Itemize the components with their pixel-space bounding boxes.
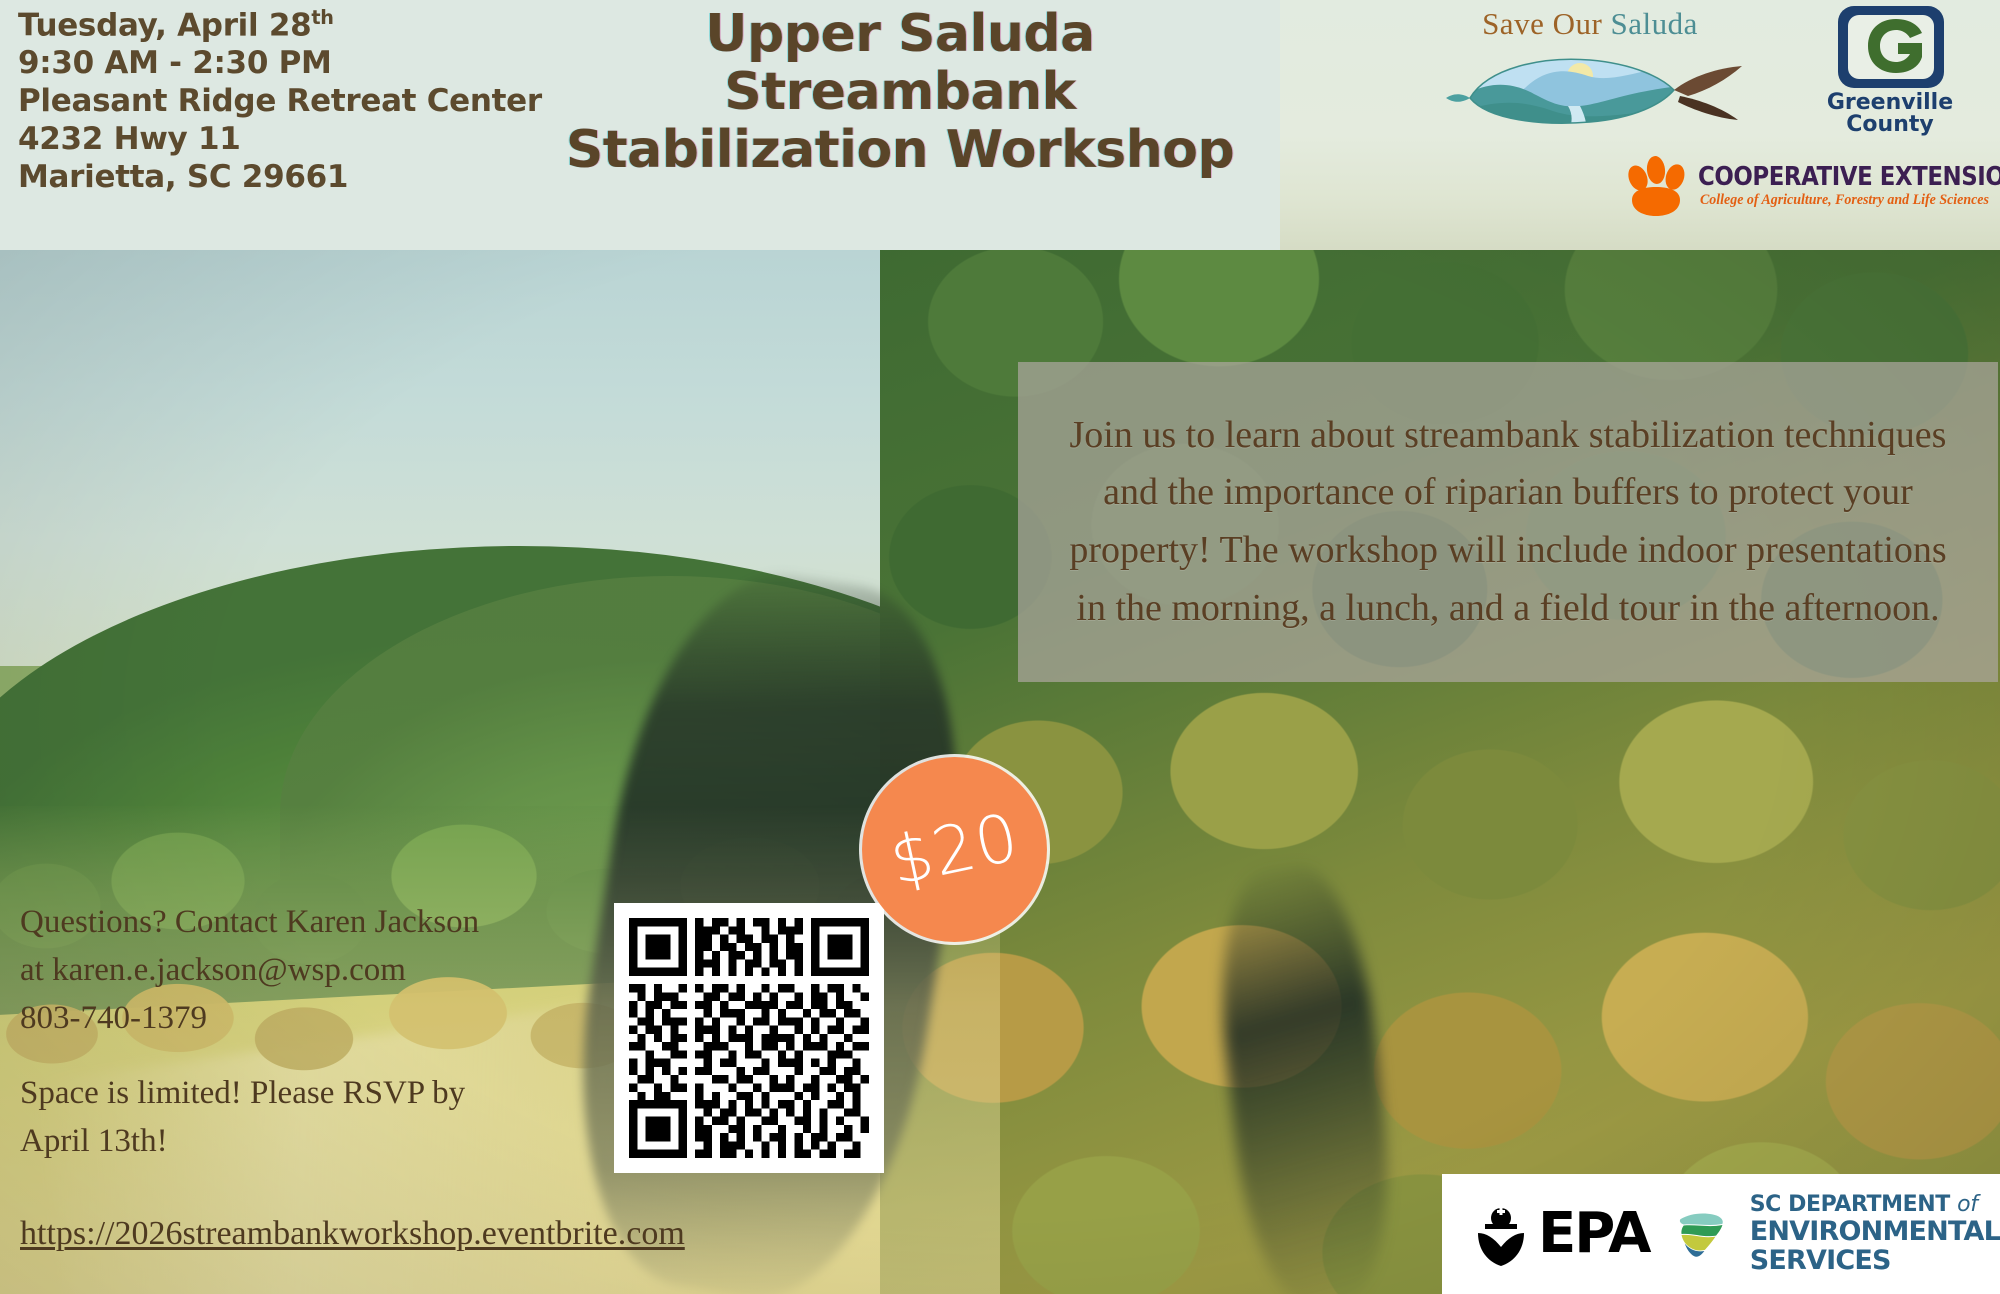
save-our-saluda-logo: Save Our Saluda — [1430, 6, 1750, 126]
greenville-county-wordmark: Greenville County — [1790, 92, 1990, 137]
qr-code-icon — [629, 918, 869, 1158]
fish-river-mountain-icon — [1430, 46, 1750, 132]
rsvp-line-2: April 13th! — [20, 1117, 620, 1165]
contact-phone: 803-740-1379 — [20, 994, 620, 1042]
des-line-1a: SC DEPARTMENT — [1750, 1192, 1957, 1217]
contact-line-1: Questions? Contact Karen Jackson — [20, 898, 620, 946]
gc-line-2: County — [1790, 114, 1990, 136]
contact-email: at karen.e.jackson@wsp.com — [20, 946, 620, 994]
sos-word-our: Our — [1553, 6, 1603, 41]
title-line-1: Upper Saluda — [540, 5, 1260, 63]
description-text: Join us to learn about streambank stabil… — [1018, 407, 1998, 638]
description-panel: Join us to learn about streambank stabil… — [1018, 362, 1998, 682]
des-line-2: ENVIRONMENTAL — [1750, 1217, 2000, 1246]
price-amount: $20 — [883, 798, 1025, 900]
des-line-3: SERVICES — [1750, 1246, 2000, 1275]
epa-logo: EPA — [1468, 1200, 1650, 1268]
epa-wordmark: EPA — [1538, 1206, 1650, 1262]
sos-word-save: Save — [1482, 6, 1544, 41]
event-details: Tuesday, April 28th 9:30 AM - 2:30 PM Pl… — [18, 6, 538, 196]
clemson-extension-logo: COOPERATIVE EXTENSION College of Agricul… — [1620, 152, 2000, 214]
registration-link[interactable]: https://2026streambankworkshop.eventbrit… — [20, 1215, 685, 1253]
extension-title: COOPERATIVE EXTENSION — [1698, 162, 2000, 192]
page-title: Upper Saluda Streambank Stabilization Wo… — [540, 5, 1260, 180]
greenville-g-icon — [1836, 4, 1946, 90]
sos-word-saluda: Saluda — [1611, 6, 1698, 41]
extension-subtitle: College of Agriculture, Forestry and Lif… — [1700, 192, 1989, 209]
title-line-3: Stabilization Workshop — [540, 121, 1260, 179]
title-line-2: Streambank — [540, 63, 1260, 121]
sc-state-shape-icon — [1672, 1184, 1728, 1284]
rsvp-line-1: Space is limited! Please RSVP by — [20, 1069, 620, 1117]
epa-seal-icon — [1468, 1200, 1534, 1268]
clemson-paw-icon — [1622, 156, 1692, 216]
event-venue: Pleasant Ridge Retreat Center — [18, 83, 538, 121]
contact-spacer — [20, 1043, 620, 1069]
price-badge: $20 — [862, 757, 1047, 942]
sc-des-wordmark: SC DEPARTMENT of ENVIRONMENTAL SERVICES — [1750, 1193, 2000, 1275]
des-line-1: SC DEPARTMENT of — [1750, 1193, 2000, 1217]
contact-block: Questions? Contact Karen Jackson at kare… — [20, 898, 620, 1165]
save-our-saluda-wordmark: Save Our Saluda — [1430, 6, 1750, 42]
event-flyer: Tuesday, April 28th 9:30 AM - 2:30 PM Pl… — [0, 0, 2000, 1294]
gc-line-1: Greenville — [1790, 92, 1990, 114]
des-line-1b: of — [1957, 1192, 1977, 1217]
event-date: Tuesday, April 28th — [18, 6, 538, 45]
registration-qr-code[interactable] — [614, 903, 884, 1173]
event-street: 4232 Hwy 11 — [18, 121, 538, 159]
event-time: 9:30 AM - 2:30 PM — [18, 45, 538, 83]
greenville-county-logo: Greenville County — [1790, 4, 1990, 139]
sponsor-logo-bar: EPA SC DEPARTMENT of ENVIRONMENTAL SERVI… — [1442, 1174, 2000, 1294]
event-city-state-zip: Marietta, SC 29661 — [18, 159, 538, 197]
date-ordinal-suffix: th — [311, 6, 333, 29]
